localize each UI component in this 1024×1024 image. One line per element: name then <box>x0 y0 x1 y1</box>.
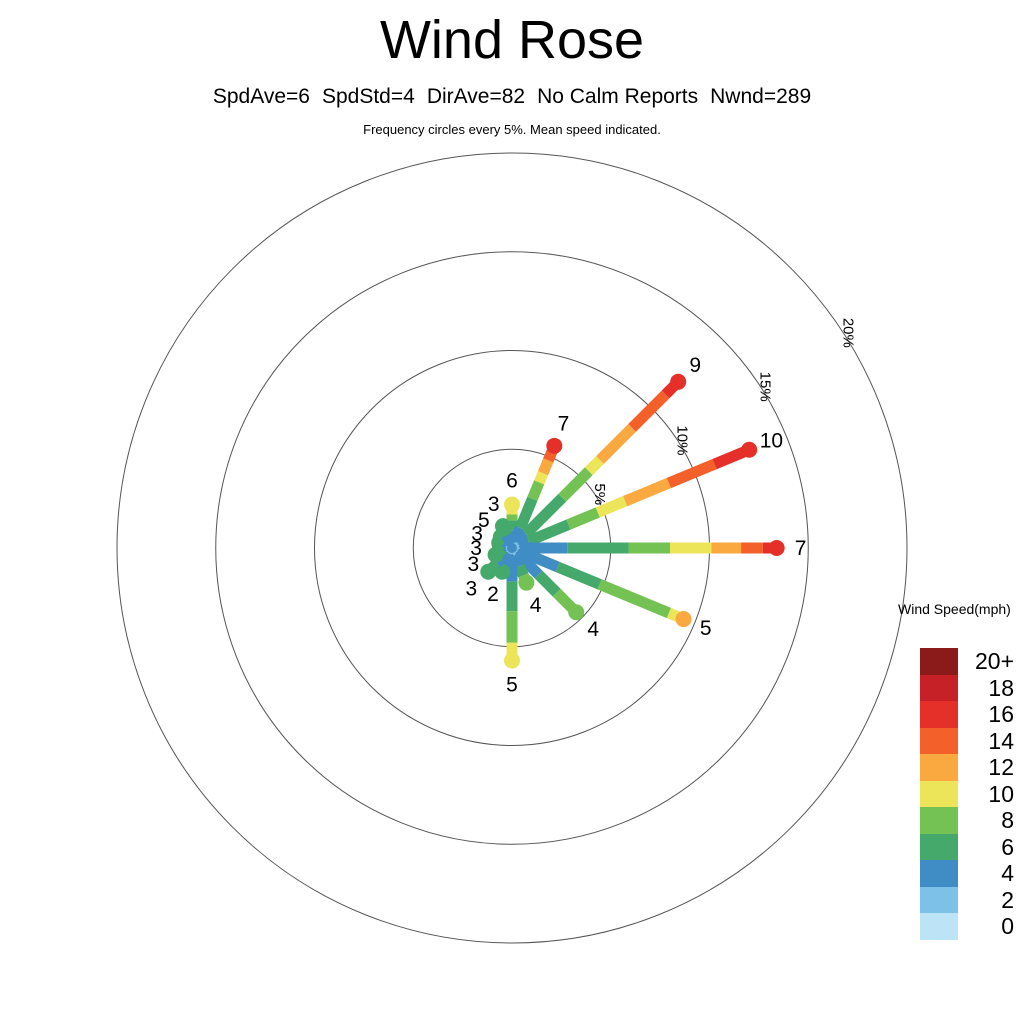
petal-segment <box>600 584 669 613</box>
petal-tip <box>518 575 534 591</box>
petal-segment <box>558 567 600 584</box>
legend-row[interactable]: 20+ <box>920 648 1014 675</box>
petal-tip <box>670 374 686 390</box>
legend-label: 12 <box>958 754 1014 781</box>
legend-row[interactable]: 6 <box>920 834 1014 861</box>
petal-tip <box>480 564 496 580</box>
ring-label: 20% <box>839 318 856 348</box>
rose-center <box>507 543 517 553</box>
petal-segment <box>625 483 669 501</box>
legend-color-swatch <box>920 781 958 808</box>
legend-color-swatch <box>920 648 958 675</box>
legend-row[interactable]: 2 <box>920 887 1014 914</box>
petal-mean-speed-label: 7 <box>795 537 807 560</box>
petal-segment <box>569 512 598 524</box>
legend-label: 18 <box>958 675 1014 702</box>
legend-color-swatch <box>920 701 958 728</box>
legend-title: Wind Speed(mph) <box>898 600 1024 618</box>
petal[interactable] <box>512 374 686 548</box>
petal-segment <box>539 575 557 593</box>
legend-label: 6 <box>958 834 1014 861</box>
petal-tip <box>504 653 520 669</box>
petal-segment <box>543 460 548 473</box>
legend-color-swatch <box>920 807 958 834</box>
petal[interactable] <box>512 540 785 556</box>
legend-row[interactable]: 4 <box>920 860 1014 887</box>
legend-color-swatch <box>920 675 958 702</box>
petal-segment <box>632 394 666 428</box>
ring-label: 5% <box>591 483 608 505</box>
legend-label: 8 <box>958 807 1014 834</box>
legend-color-swatch <box>920 834 958 861</box>
legend-color-swatch <box>920 728 958 755</box>
petal-mean-speed-label: 10 <box>760 430 783 453</box>
petal-mean-speed-label: 4 <box>530 594 542 617</box>
petal-mean-speed-label: 4 <box>587 618 599 641</box>
petal-mean-speed-label: 3 <box>488 493 500 516</box>
ring-label: 15% <box>756 372 773 402</box>
legend-row[interactable]: 14 <box>920 728 1014 755</box>
petal-mean-speed-label: 3 <box>465 578 477 601</box>
petal-mean-speed-label: 2 <box>487 583 499 606</box>
legend-label: 0 <box>958 913 1014 940</box>
petal-tip <box>568 604 584 620</box>
ring-label: 10% <box>674 425 691 455</box>
legend-label: 16 <box>958 701 1014 728</box>
petal-segment <box>562 471 589 498</box>
legend-row[interactable]: 0 <box>920 913 1014 940</box>
legend-label: 20+ <box>958 648 1014 675</box>
petal-mean-speed-label: 5 <box>506 674 518 697</box>
petals-group <box>480 374 784 669</box>
petal-segment <box>589 460 600 471</box>
wind-rose-chart: Wind Rose SpdAve=6SpdStd=4DirAve=82No Ca… <box>0 0 1024 1024</box>
petal-mean-speed-label: 9 <box>689 354 701 377</box>
petal-mean-speed-label: 5 <box>700 617 712 640</box>
petal-tip <box>676 611 692 627</box>
petal-segment <box>532 482 539 498</box>
legend-color-swatch <box>920 754 958 781</box>
petal-tip <box>769 540 785 556</box>
petal-mean-speed-label: 6 <box>506 470 518 493</box>
petal-mean-speed-label: 7 <box>558 413 570 436</box>
legend-color-swatch <box>920 860 958 887</box>
petal-segment <box>507 535 511 544</box>
petal-segment <box>539 473 543 482</box>
ring-labels-group: 5%10%15%20% <box>591 318 856 505</box>
legend-swatches: 20+181614121086420 <box>920 648 1014 940</box>
legend-row[interactable]: 8 <box>920 807 1014 834</box>
petal-segment <box>520 566 524 575</box>
legend-row[interactable]: 12 <box>920 754 1014 781</box>
legend-row[interactable]: 10 <box>920 781 1014 808</box>
legend-row[interactable]: 16 <box>920 701 1014 728</box>
legend-color-swatch <box>920 887 958 914</box>
wind-rose-plot: 5%10%15%20% 67910754452333353 <box>0 0 1024 1024</box>
petal-segment <box>600 428 632 460</box>
legend-label: 10 <box>958 781 1014 808</box>
legend-label: 2 <box>958 887 1014 914</box>
petal-tip <box>495 518 511 534</box>
petal-tip <box>741 442 757 458</box>
legend-color-swatch <box>920 913 958 940</box>
legend-label: 4 <box>958 860 1014 887</box>
petal-tip <box>546 438 562 454</box>
petal-tip <box>504 497 520 513</box>
legend-label: 14 <box>958 728 1014 755</box>
legend-row[interactable]: 18 <box>920 675 1014 702</box>
legend: Wind Speed(mph) 20+181614121086420 <box>898 600 1024 618</box>
